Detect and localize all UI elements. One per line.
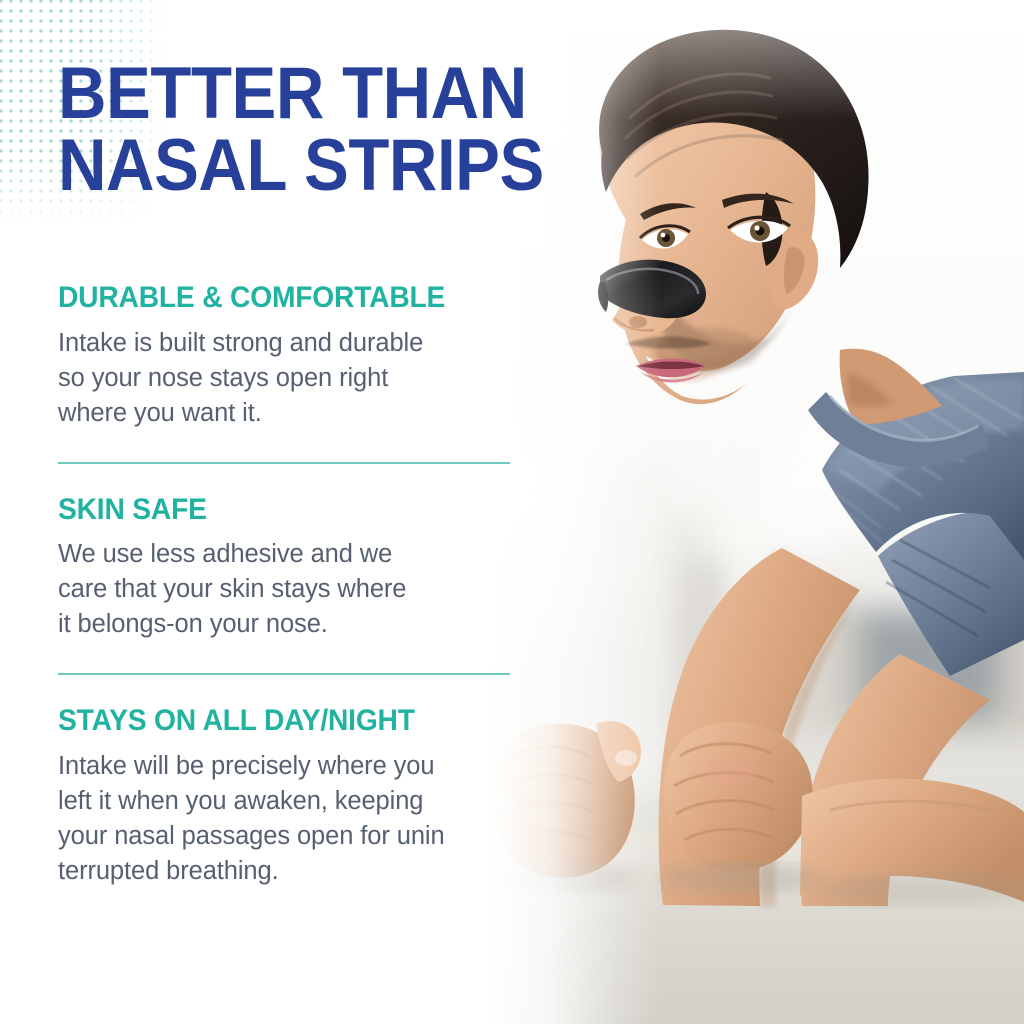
feature-body-line: We use less adhesive and we — [58, 537, 518, 572]
feature-body-line: terrupted breathing. — [58, 854, 518, 889]
feature-section-stays-on: STAYS ON ALL DAY/NIGHT Intake will be pr… — [58, 705, 518, 888]
feature-body-line: so your nose stays open right — [58, 361, 518, 396]
feature-heading-durable: DURABLE & COMFORTABLE — [58, 282, 490, 314]
section-divider — [58, 673, 510, 675]
headline-line-1: BETTER THAN — [58, 58, 500, 130]
feature-heading-stays-on: STAYS ON ALL DAY/NIGHT — [58, 705, 490, 737]
feature-body-line: Intake will be precisely where you — [58, 749, 518, 784]
feature-list: DURABLE & COMFORTABLE Intake is built st… — [58, 282, 518, 889]
feature-body-line: care that your skin stays where — [58, 572, 518, 607]
infographic-canvas: BETTER THAN NASAL STRIPS DURABLE & COMFO… — [0, 0, 1024, 1024]
feature-body-line: left it when you awaken, keeping — [58, 784, 518, 819]
feature-body-stays-on: Intake will be precisely where you left … — [58, 749, 518, 889]
page-title: BETTER THAN NASAL STRIPS — [58, 58, 500, 201]
feature-body-line: it belongs-on your nose. — [58, 607, 518, 642]
feature-body-skin-safe: We use less adhesive and we care that yo… — [58, 537, 518, 642]
feature-body-durable: Intake is built strong and durable so yo… — [58, 326, 518, 431]
feature-section-durable: DURABLE & COMFORTABLE Intake is built st… — [58, 282, 518, 431]
feature-section-skin-safe: SKIN SAFE We use less adhesive and we ca… — [58, 494, 518, 643]
feature-heading-skin-safe: SKIN SAFE — [58, 494, 490, 526]
section-divider — [58, 462, 510, 464]
feature-body-line: where you want it. — [58, 396, 518, 431]
feature-body-line: Intake is built strong and durable — [58, 326, 518, 361]
headline-line-2: NASAL STRIPS — [58, 130, 500, 202]
feature-body-line: your nasal passages open for unin — [58, 819, 518, 854]
text-column: BETTER THAN NASAL STRIPS DURABLE & COMFO… — [0, 0, 540, 1024]
